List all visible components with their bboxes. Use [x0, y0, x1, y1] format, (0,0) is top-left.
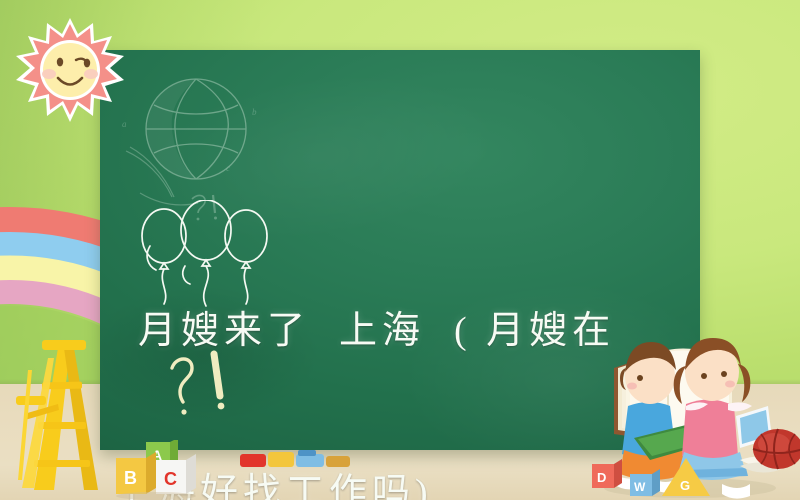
svg-text:D: D	[597, 470, 606, 485]
svg-text:c: c	[226, 163, 230, 173]
toy-row	[238, 444, 358, 474]
svg-text:G: G	[680, 478, 690, 493]
svg-text:b: b	[252, 107, 257, 117]
alphabet-blocks: A B C	[112, 440, 242, 500]
svg-text:B: B	[124, 468, 137, 488]
banner-canvas: a b c	[0, 0, 800, 500]
svg-text:C: C	[164, 469, 177, 489]
svg-text:W: W	[634, 480, 646, 494]
smiling-sun-icon	[14, 16, 126, 128]
alphabet-blocks-right: D W G	[590, 452, 770, 500]
